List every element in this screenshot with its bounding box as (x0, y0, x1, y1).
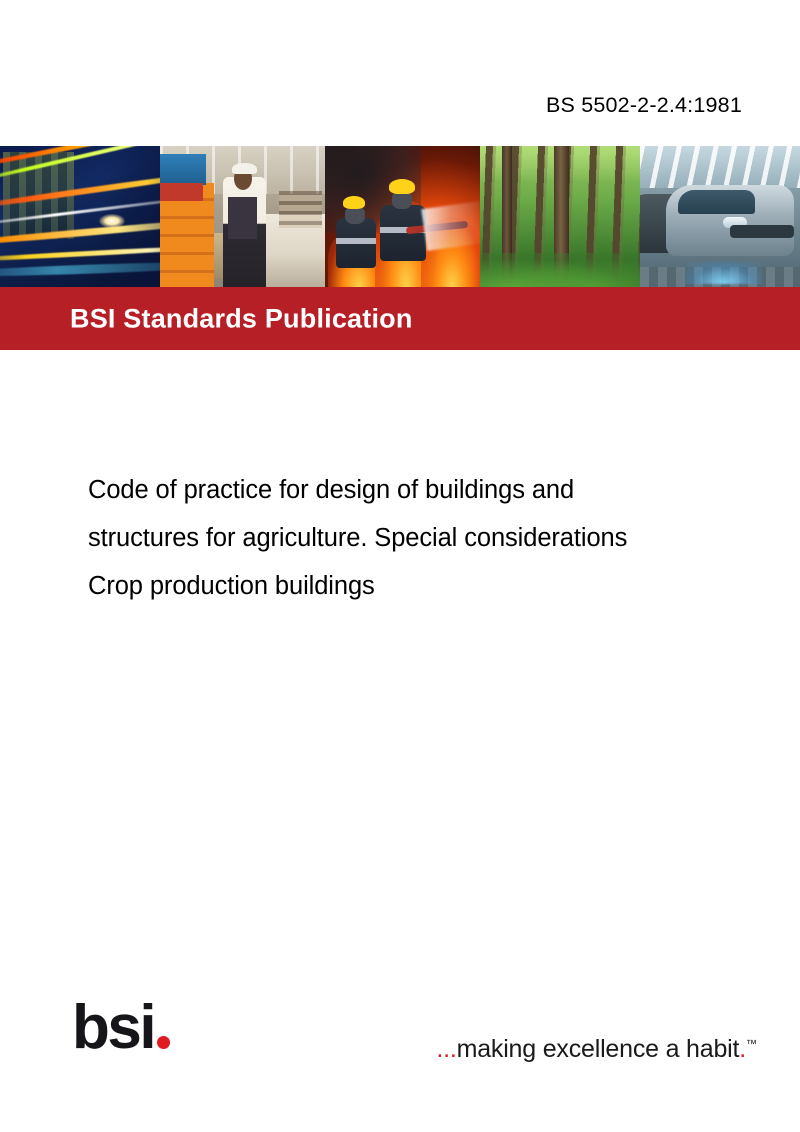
light-streak (0, 259, 160, 279)
car-grille (730, 225, 794, 238)
firefighter-jacket (380, 205, 426, 261)
bsi-standards-publication-banner: BSI Standards Publication (0, 287, 800, 350)
light-streak (0, 243, 160, 264)
image-panel-night-traffic-light-trails (0, 146, 160, 287)
trademark-symbol: ™ (746, 1039, 757, 1051)
firefighter-jacket (336, 218, 376, 268)
bsi-logo-text: bsi (72, 1003, 154, 1053)
title-line-1: Code of practice for design of buildings… (88, 466, 800, 514)
title-line-3: Crop production buildings (88, 562, 800, 610)
firefighter-helmet (343, 196, 365, 209)
warehouse-shelving (279, 191, 322, 228)
tagline-main-text: making excellence a habit (457, 1035, 740, 1063)
image-panel-warehouse-worker (160, 146, 325, 287)
cover-image-strip (0, 146, 800, 287)
car-windscreen (678, 190, 755, 214)
banner-label: BSI Standards Publication (70, 303, 413, 334)
worker-cap (232, 163, 257, 174)
bsi-logo-dot-icon (157, 1036, 170, 1049)
tagline-period: . (739, 1035, 746, 1063)
hi-vis-stripe (336, 238, 376, 244)
blue-crate (160, 154, 206, 185)
bsi-logo: bsi (72, 1003, 170, 1053)
floor-blue-glow (685, 262, 762, 285)
water-spray (422, 201, 480, 251)
image-panel-car-assembly-line (640, 146, 800, 287)
image-panel-forest (480, 146, 640, 287)
assembly-line-ceiling-lights (640, 146, 800, 188)
bsi-tagline: ...making excellence a habit.™ (436, 1035, 757, 1064)
red-crate (160, 183, 203, 201)
title-line-2: structures for agriculture. Special cons… (88, 514, 800, 562)
document-title: Code of practice for design of buildings… (88, 466, 800, 610)
forest-undergrowth (480, 253, 640, 287)
image-panel-firefighters (325, 146, 480, 287)
tagline-leading-ellipsis: ... (436, 1035, 456, 1063)
standard-number: BS 5502-2-2.4:1981 (546, 93, 742, 118)
headlight-glow (99, 214, 125, 228)
firefighter-helmet (389, 179, 415, 194)
document-cover-page: BS 5502-2-2.4:1981 (0, 0, 800, 1132)
worker-apron (228, 197, 258, 239)
